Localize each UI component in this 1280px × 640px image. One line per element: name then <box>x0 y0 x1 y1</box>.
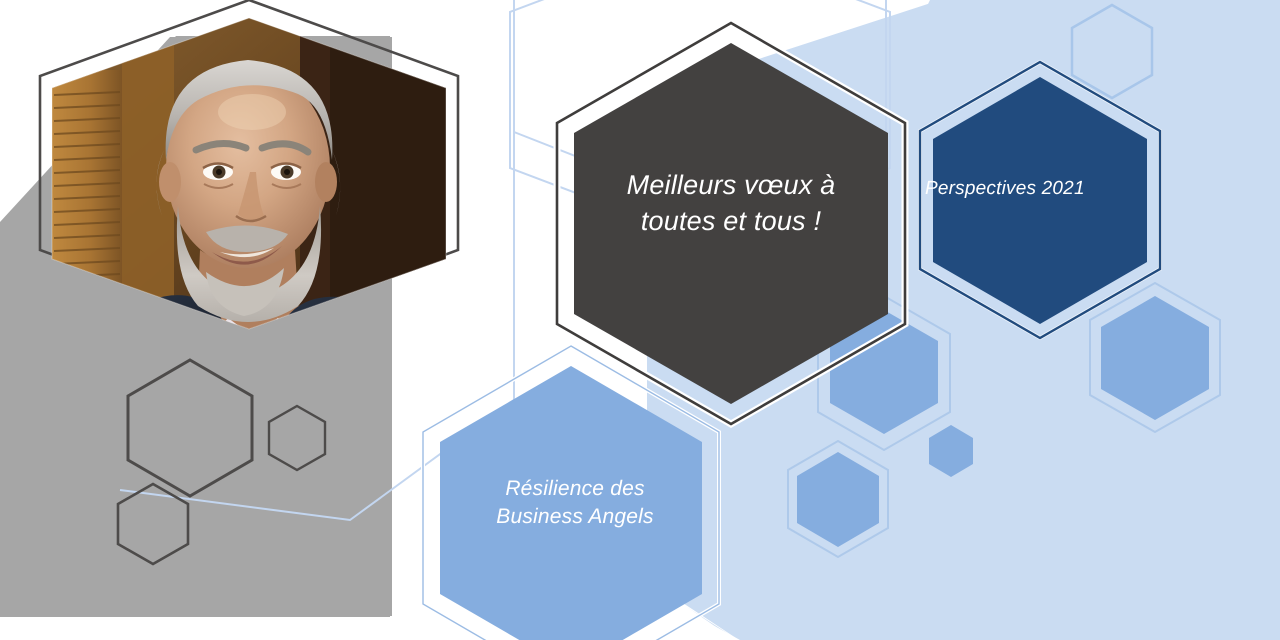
slide-canvas: Meilleurs vœux à toutes et tous ! Perspe… <box>0 0 1280 640</box>
pupil-right <box>284 169 290 175</box>
slide-graphics <box>0 0 1280 640</box>
ear-left <box>159 162 181 202</box>
ear-right <box>315 162 337 202</box>
pupil-left <box>216 169 222 175</box>
forehead-highlight <box>218 94 286 130</box>
